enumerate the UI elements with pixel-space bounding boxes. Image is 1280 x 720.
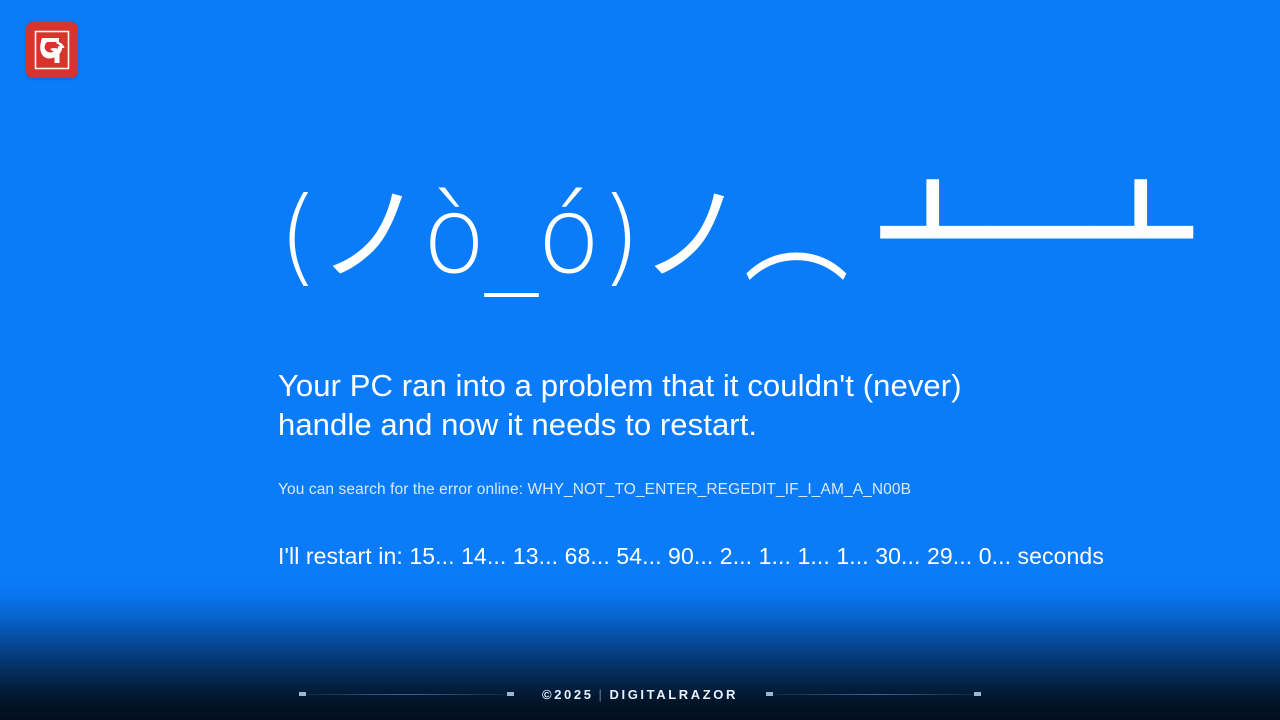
digitalrazor-bird-logo-icon <box>26 22 78 78</box>
footer-copyright: ©2025|DIGITALRAZOR <box>542 687 738 702</box>
footer-company-name: DIGITALRAZOR <box>610 687 738 702</box>
error-search-line: You can search for the error online: WHY… <box>278 481 911 499</box>
bsod-screen: (ノò_ó)ノ︵ ┻━┻ Your PC ran into a problem … <box>0 0 1280 720</box>
footer-rule-left <box>299 694 514 695</box>
restart-countdown-line: I'll restart in: 15... 14... 13... 68...… <box>278 543 1104 570</box>
error-headline: Your PC ran into a problem that it could… <box>278 366 1008 444</box>
footer: ©2025|DIGITALRAZOR <box>0 668 1280 720</box>
copyright-year: ©2025 <box>542 687 594 702</box>
error-content: (ノò_ó)ノ︵ ┻━┻ Your PC ran into a problem … <box>278 0 1278 720</box>
ascii-table-flip-emoticon: (ノò_ó)ノ︵ ┻━┻ <box>278 180 1192 293</box>
footer-separator: | <box>594 687 610 702</box>
footer-rule-right <box>766 694 981 695</box>
